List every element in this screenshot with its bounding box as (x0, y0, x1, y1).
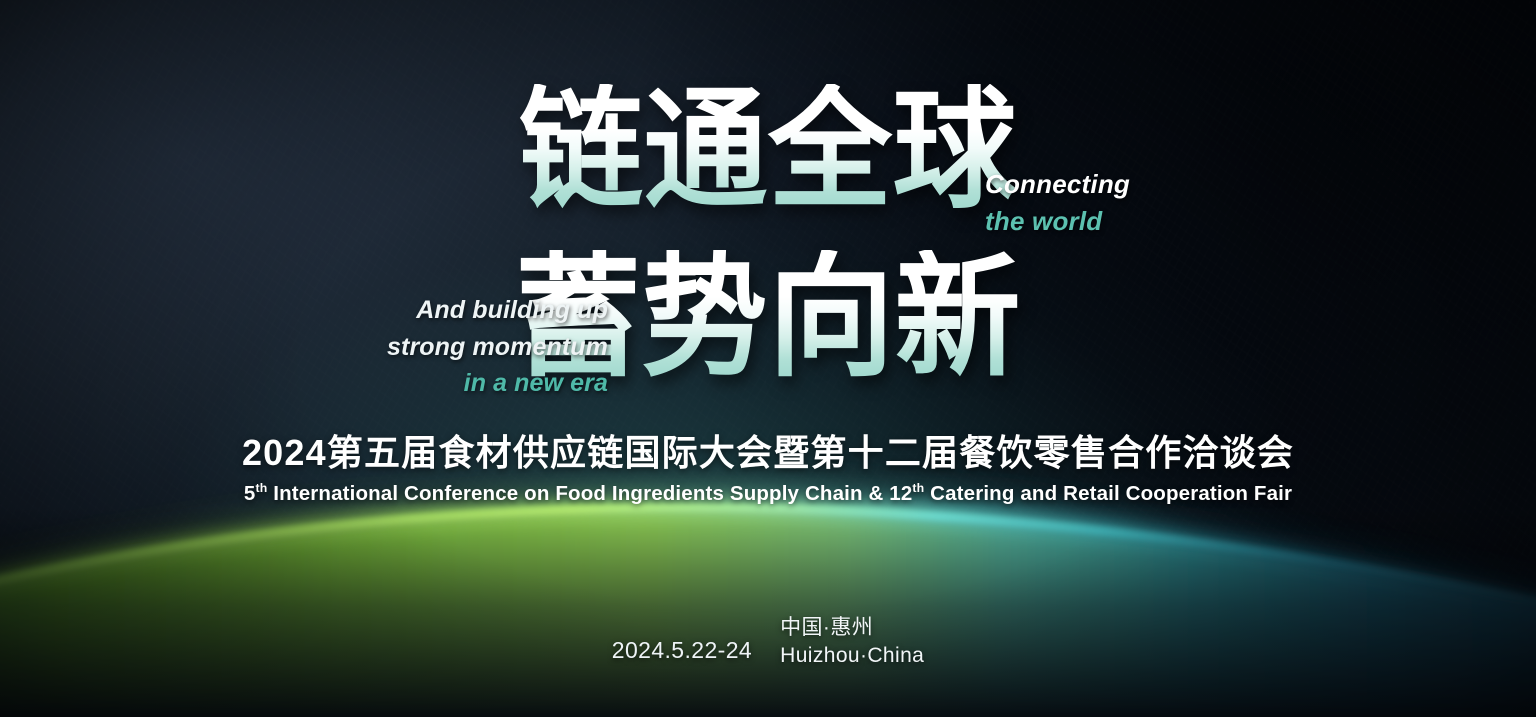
headline-line-1-english: Connecting the world (985, 166, 1130, 240)
subtitle-en-superscript-2: th (912, 481, 924, 495)
headline-line-2-row: 蓄势向新 (0, 250, 1536, 410)
subtitle-en-part-3: Catering and Retail Cooperation Fair (924, 482, 1292, 505)
banner-footer: 2024.5.22-24 中国·惠州 Huizhou·China (0, 614, 1536, 670)
event-location-english: Huizhou·China (780, 642, 924, 670)
subtitle-en-part-2: International Conference on Food Ingredi… (267, 482, 912, 505)
event-location-chinese: 中国·惠州 (780, 614, 924, 642)
headline-en-the-world: the world (985, 203, 1130, 240)
conference-banner: 链通全球 Connecting the world 蓄势向新 And build… (0, 0, 1536, 717)
headline-line-1-row: 链通全球 (0, 84, 1536, 234)
subtitle-en-superscript-1: th (255, 481, 267, 495)
headline-en-strong-momentum: strong momentum (387, 329, 608, 366)
subtitle-en-part-1: 5 (244, 482, 256, 505)
subtitle-english: 5th International Conference on Food Ing… (0, 482, 1536, 506)
headline-en-connecting: Connecting (985, 166, 1130, 203)
banner-content: 链通全球 Connecting the world 蓄势向新 And build… (0, 0, 1536, 717)
headline-line-2-english: And building up strong momentum in a new… (387, 292, 608, 402)
event-location: 中国·惠州 Huizhou·China (780, 614, 924, 670)
headline-en-in-a-new-era: in a new era (387, 365, 608, 402)
subtitle-chinese: 2024第五届食材供应链国际大会暨第十二届餐饮零售合作洽谈会 (0, 424, 1536, 476)
headline-line-1-chinese: 链通全球 (519, 84, 1017, 218)
headline-en-and-building-up: And building up (387, 292, 608, 329)
event-date: 2024.5.22-24 (612, 620, 752, 664)
